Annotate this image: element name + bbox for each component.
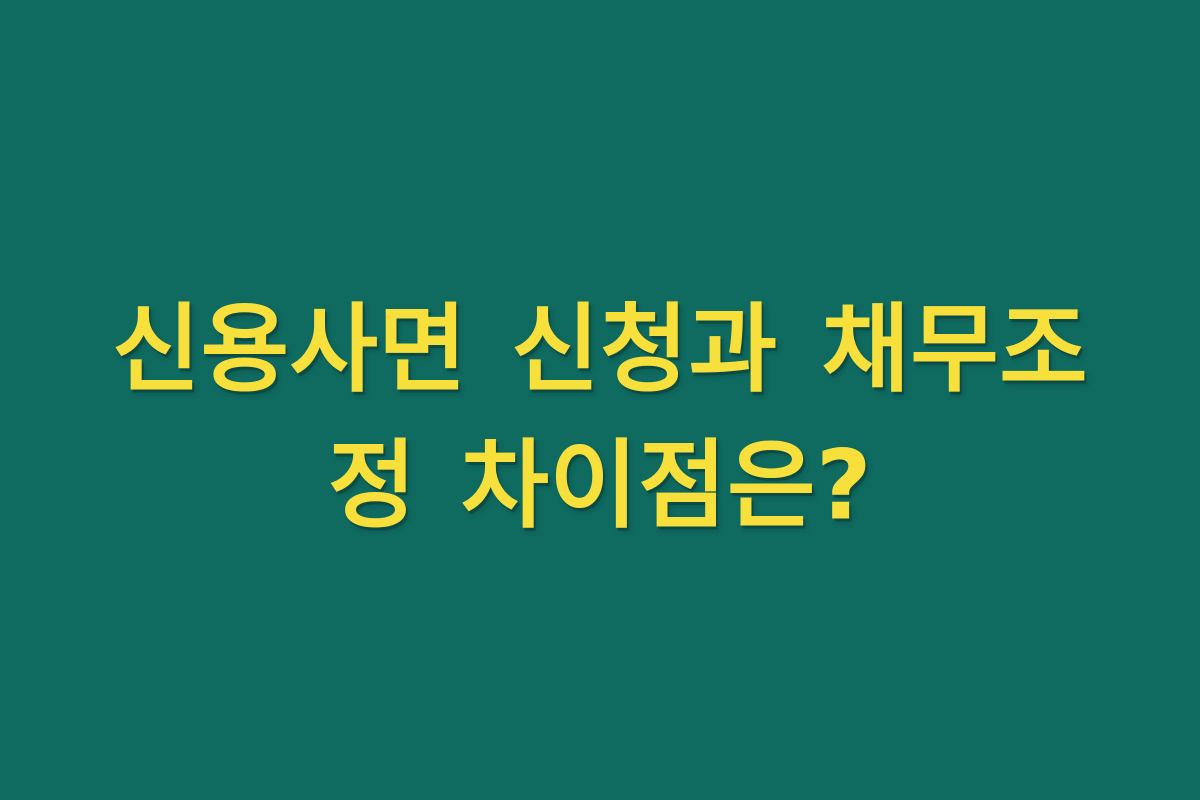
headline-text: 신용사면 신청과 채무조 정 차이점은? xyxy=(95,282,1105,555)
headline-block: 신용사면 신청과 채무조 정 차이점은? xyxy=(95,282,1105,555)
text-card-canvas: 신용사면 신청과 채무조 정 차이점은? xyxy=(0,0,1200,800)
